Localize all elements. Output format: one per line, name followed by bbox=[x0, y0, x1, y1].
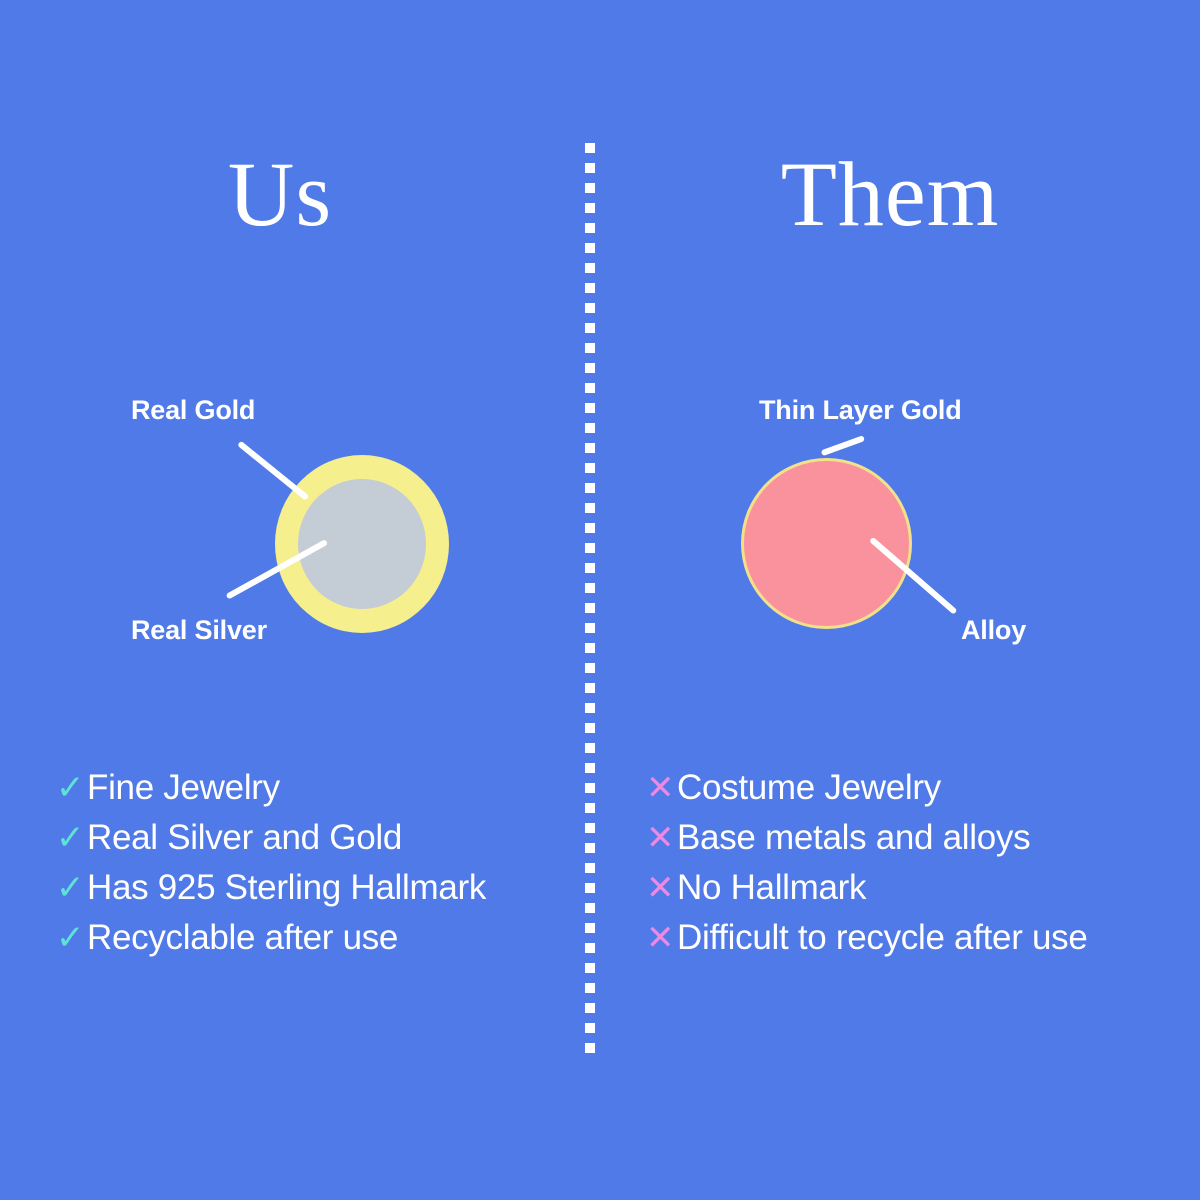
label-alloy: Alloy bbox=[961, 615, 1026, 645]
divider-dot bbox=[585, 863, 595, 873]
column-heading-us: Us bbox=[0, 148, 560, 240]
feature-list-us: ✓ Fine Jewelry ✓ Real Silver and Gold ✓ … bbox=[56, 768, 486, 968]
divider-dot bbox=[585, 723, 595, 733]
divider-dot bbox=[585, 323, 595, 333]
column-heading-them: Them bbox=[610, 148, 1170, 240]
divider-dot bbox=[585, 803, 595, 813]
list-item-label: No Hallmark bbox=[677, 868, 866, 908]
cross-icon: ✕ bbox=[646, 768, 677, 808]
divider-dot bbox=[585, 423, 595, 433]
divider-dot bbox=[585, 263, 595, 273]
divider-dot bbox=[585, 163, 595, 173]
leader-line-real-gold bbox=[237, 441, 309, 501]
divider-dot bbox=[585, 343, 595, 353]
divider-dot bbox=[585, 143, 595, 153]
list-item-label: Costume Jewelry bbox=[677, 768, 941, 808]
list-item-label: Base metals and alloys bbox=[677, 818, 1030, 858]
divider-dot bbox=[585, 943, 595, 953]
list-item-label: Difficult to recycle after use bbox=[677, 918, 1088, 958]
divider-dot bbox=[585, 283, 595, 293]
leader-line-thin-layer-gold bbox=[821, 435, 865, 456]
list-item: ✓ Recyclable after use bbox=[56, 918, 486, 968]
list-item-label: Has 925 Sterling Hallmark bbox=[87, 868, 486, 908]
divider-dot bbox=[585, 823, 595, 833]
divider-dot bbox=[585, 603, 595, 613]
divider-dot bbox=[585, 223, 595, 233]
list-item: ✕ Base metals and alloys bbox=[646, 818, 1088, 868]
list-item-label: Real Silver and Gold bbox=[87, 818, 402, 858]
divider-dot bbox=[585, 703, 595, 713]
divider-dot bbox=[585, 183, 595, 193]
check-icon: ✓ bbox=[56, 818, 87, 858]
list-item-label: Recyclable after use bbox=[87, 918, 398, 958]
divider-dot bbox=[585, 963, 595, 973]
divider-dot bbox=[585, 783, 595, 793]
divider-dot bbox=[585, 843, 595, 853]
label-real-gold: Real Gold bbox=[131, 395, 255, 425]
divider-dot bbox=[585, 363, 595, 373]
feature-list-them: ✕ Costume Jewelry ✕ Base metals and allo… bbox=[646, 768, 1088, 968]
cross-icon: ✕ bbox=[646, 818, 677, 858]
list-item: ✓ Real Silver and Gold bbox=[56, 818, 486, 868]
divider-dot bbox=[585, 1003, 595, 1013]
divider-dot bbox=[585, 403, 595, 413]
divider-dot bbox=[585, 643, 595, 653]
divider-dot bbox=[585, 583, 595, 593]
divider-dot bbox=[585, 523, 595, 533]
cross-icon: ✕ bbox=[646, 918, 677, 958]
divider-dot bbox=[585, 483, 595, 493]
list-item-label: Fine Jewelry bbox=[87, 768, 280, 808]
comparison-infographic: Us Them Real Gold Real Silver Thin Layer… bbox=[0, 0, 1200, 1200]
alloy-core-with-gold-plating bbox=[741, 458, 912, 629]
divider-dot bbox=[585, 903, 595, 913]
label-thin-layer-gold: Thin Layer Gold bbox=[759, 395, 962, 425]
divider-dot bbox=[585, 1043, 595, 1053]
list-item: ✓ Fine Jewelry bbox=[56, 768, 486, 818]
check-icon: ✓ bbox=[56, 918, 87, 958]
divider-dot bbox=[585, 443, 595, 453]
divider-dot bbox=[585, 1023, 595, 1033]
cross-icon: ✕ bbox=[646, 868, 677, 908]
list-item: ✕ No Hallmark bbox=[646, 868, 1088, 918]
label-real-silver: Real Silver bbox=[131, 615, 267, 645]
divider-dot bbox=[585, 503, 595, 513]
divider-dot bbox=[585, 623, 595, 633]
divider-dot bbox=[585, 563, 595, 573]
list-item: ✕ Costume Jewelry bbox=[646, 768, 1088, 818]
dotted-vertical-divider bbox=[585, 143, 595, 1055]
divider-dot bbox=[585, 463, 595, 473]
list-item: ✓ Has 925 Sterling Hallmark bbox=[56, 868, 486, 918]
divider-dot bbox=[585, 763, 595, 773]
list-item: ✕ Difficult to recycle after use bbox=[646, 918, 1088, 968]
divider-dot bbox=[585, 683, 595, 693]
check-icon: ✓ bbox=[56, 768, 87, 808]
divider-dot bbox=[585, 663, 595, 673]
check-icon: ✓ bbox=[56, 868, 87, 908]
divider-dot bbox=[585, 543, 595, 553]
divider-dot bbox=[585, 983, 595, 993]
divider-dot bbox=[585, 243, 595, 253]
divider-dot bbox=[585, 883, 595, 893]
divider-dot bbox=[585, 923, 595, 933]
divider-dot bbox=[585, 203, 595, 213]
divider-dot bbox=[585, 743, 595, 753]
divider-dot bbox=[585, 303, 595, 313]
divider-dot bbox=[585, 383, 595, 393]
